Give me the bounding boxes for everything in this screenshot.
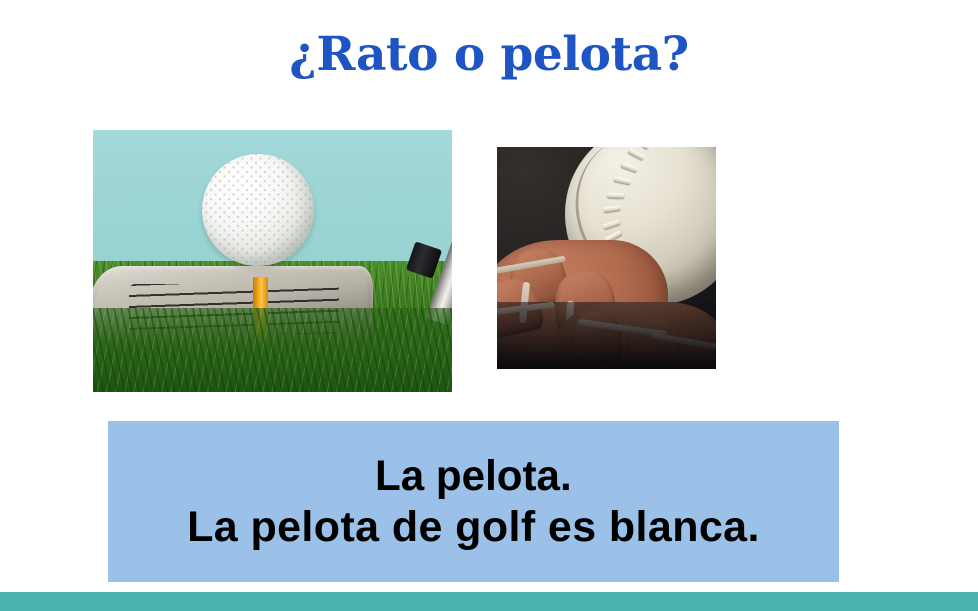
bottom-accent-bar — [0, 592, 978, 611]
golf-ball-on-tee-photo — [93, 130, 452, 392]
page-title: ¿Rato o pelota? — [0, 26, 978, 84]
baseball-stitch — [628, 148, 645, 160]
baseball-stitch — [603, 219, 621, 229]
slide-canvas: ¿Rato o pelota? — [0, 0, 978, 611]
baseball-table-surface — [497, 302, 716, 369]
answer-line-2: La pelota de golf es blanca. — [187, 501, 760, 553]
answer-text-box: La pelota. La pelota de golf es blanca. — [108, 421, 839, 582]
golf-ball — [202, 154, 313, 267]
baseball-stitch — [634, 147, 651, 149]
baseball-stitch — [614, 176, 632, 184]
golf-grass-front — [93, 308, 452, 392]
baseball-stitch — [604, 205, 622, 212]
answer-line-1: La pelota. — [375, 451, 572, 501]
baseball-stitch — [621, 162, 639, 173]
baseball-stitch — [608, 192, 625, 198]
baseball-in-glove-photo — [497, 147, 716, 369]
